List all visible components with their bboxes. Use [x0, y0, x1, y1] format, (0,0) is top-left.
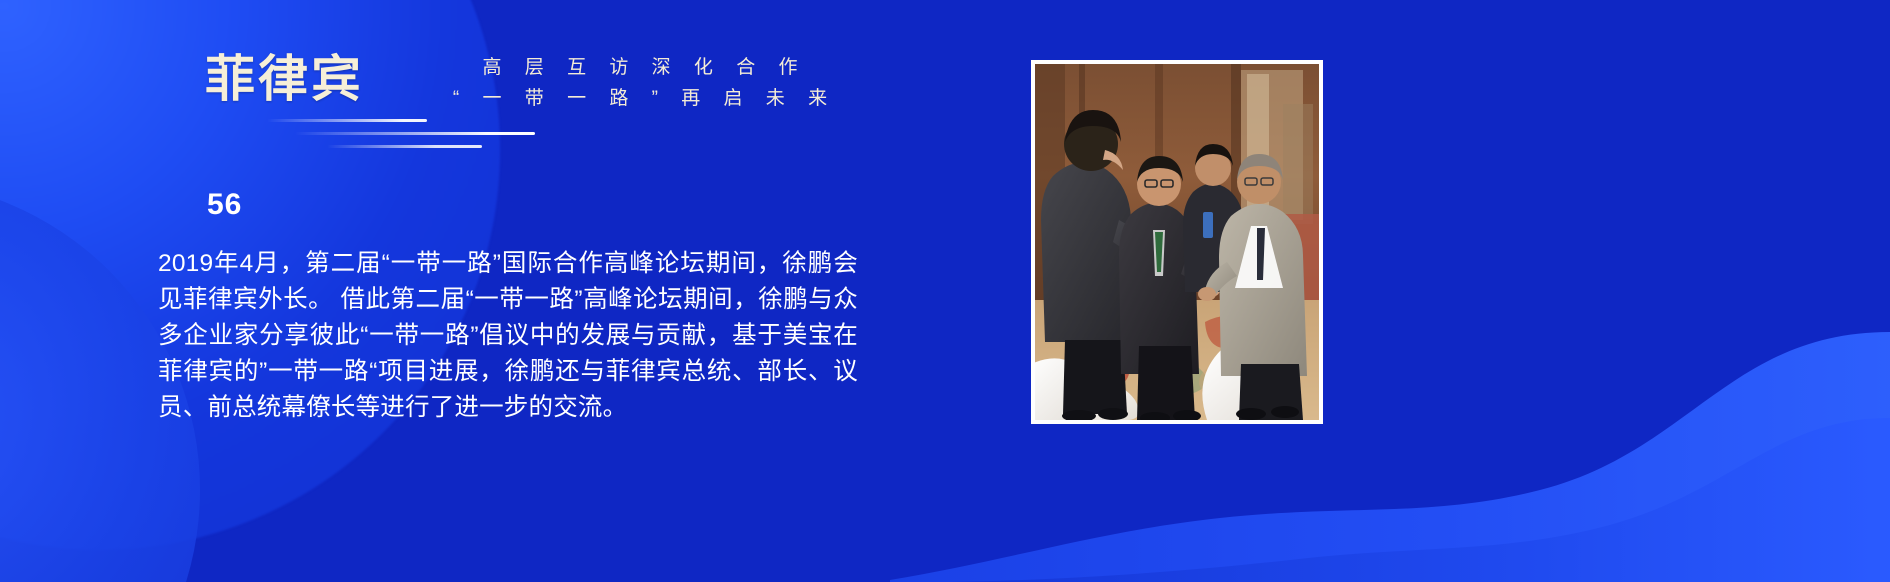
- photo-frame: [1031, 60, 1323, 424]
- deco-line-2: [295, 132, 535, 135]
- deco-line-3: [327, 145, 482, 148]
- heading-line-1: 高 层 互 访 深 化 合 作: [420, 52, 860, 83]
- item-number: 56: [207, 188, 242, 222]
- deco-line-1: [267, 119, 427, 122]
- meeting-photo: [1035, 64, 1319, 420]
- title-underline-decoration: [205, 119, 625, 165]
- body-paragraph: 2019年4月，第二届“一带一路”国际合作高峰论坛期间，徐鹏会见菲律宾外长。 借…: [158, 246, 858, 426]
- presentation-slide: 菲律宾 高 层 互 访 深 化 合 作 “ 一 带 一 路 ” 再 启 未 来 …: [0, 0, 1890, 582]
- meeting-photo-illustration: [1035, 64, 1319, 420]
- slide-heading: 高 层 互 访 深 化 合 作 “ 一 带 一 路 ” 再 启 未 来: [420, 52, 860, 115]
- heading-line-2: “ 一 带 一 路 ” 再 启 未 来: [420, 83, 860, 114]
